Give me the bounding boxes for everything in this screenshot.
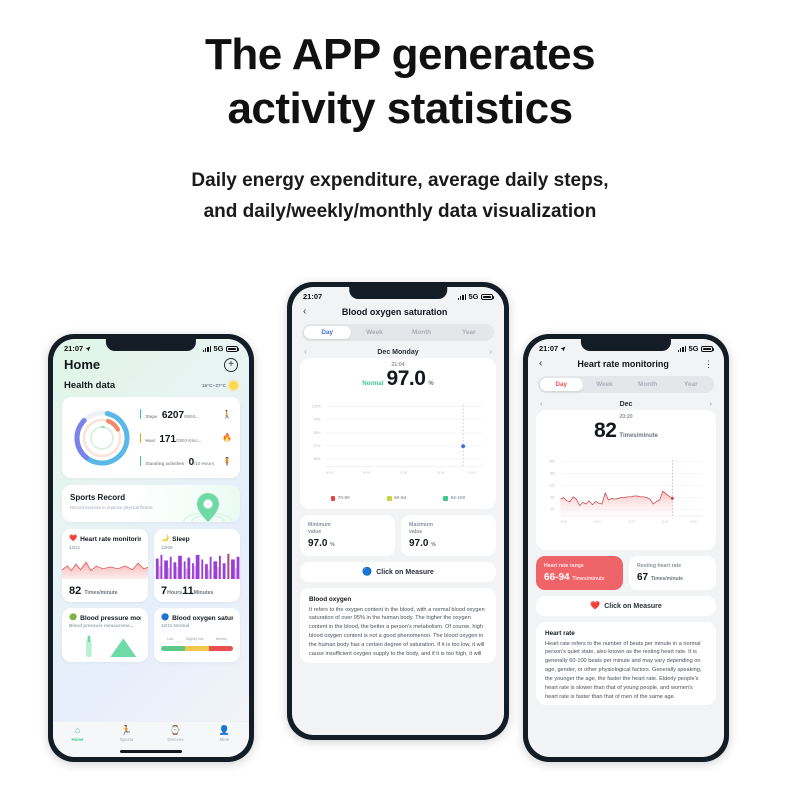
battery-icon bbox=[481, 294, 493, 300]
info-title: Blood oxygen bbox=[309, 596, 487, 603]
info-body: It refers to the oxygen content in the b… bbox=[309, 606, 487, 659]
stat-main: Heat 171/2003 Kloc... bbox=[145, 429, 218, 447]
measure-button[interactable]: 🔵 Click on Measure bbox=[300, 562, 496, 582]
standing-goal: /10 Hours bbox=[194, 461, 214, 466]
more-options-icon[interactable]: ⋮ bbox=[704, 360, 713, 369]
card-blood-pressure[interactable]: 🟢 Blood pressure mor Blood pressure meas… bbox=[62, 608, 148, 663]
svg-text:100%: 100% bbox=[312, 404, 321, 408]
status-right: 5G bbox=[458, 292, 493, 301]
home-header: Home + bbox=[62, 355, 240, 378]
card-head: 🟢 Blood pressure mor bbox=[69, 615, 141, 622]
max-label-line1: Maximum bbox=[409, 522, 488, 529]
segment-week[interactable]: Week bbox=[351, 326, 398, 340]
stat-row-steps[interactable]: Steps 6207/8000... 🚶 bbox=[140, 405, 232, 423]
bp-dot-icon: 🟢 bbox=[69, 615, 77, 622]
resting-unit: Times/minute bbox=[651, 576, 683, 582]
max-unit: % bbox=[431, 542, 435, 548]
measure-label: Click on Measure bbox=[376, 569, 434, 576]
measure-button[interactable]: ❤️ Click on Measure bbox=[536, 596, 716, 616]
heat-value: 171 bbox=[159, 434, 176, 445]
status-left: 21:07 bbox=[539, 344, 566, 353]
tab-mine[interactable]: 👤 Mine bbox=[200, 726, 249, 742]
range-label: Heart rate range bbox=[544, 563, 615, 570]
user-icon: 👤 bbox=[219, 726, 230, 735]
stat-row-heat[interactable]: Heat 171/2003 Kloc... 🔥 bbox=[140, 429, 232, 447]
location-arrow-icon bbox=[85, 346, 91, 352]
resting-value: 67 Times/minute bbox=[637, 572, 708, 583]
hr-value: 82 bbox=[69, 585, 81, 597]
add-device-button[interactable]: + bbox=[224, 358, 238, 372]
stat-main: Steps 6207/8000... bbox=[145, 405, 218, 423]
rings-svg bbox=[70, 406, 134, 470]
svg-text:24:00: 24:00 bbox=[468, 470, 476, 474]
legend-item-90-94: 90-94 bbox=[387, 496, 406, 501]
period-segmented-control: Day Week Month Year bbox=[538, 376, 714, 393]
phone-notch bbox=[106, 339, 196, 351]
range-value: 66-94 Times/minute bbox=[544, 572, 615, 583]
resting-heart-rate-card: Resting heart rate 67 Times/minute bbox=[629, 556, 716, 590]
back-icon[interactable]: ‹ bbox=[539, 359, 542, 369]
sleep-minutes-unit: Minutes bbox=[194, 590, 214, 596]
tab-sports[interactable]: 🏃 Sports bbox=[102, 726, 151, 742]
stat-tick bbox=[140, 456, 141, 466]
home-title: Home bbox=[64, 357, 100, 372]
stat-value-steps: 6207/8000... bbox=[162, 410, 199, 421]
oxygen-line-chart-svg: 100%99%98% 97%96% bbox=[310, 394, 486, 486]
headline-line-2: activity statistics bbox=[0, 82, 800, 136]
status-badge: Normal bbox=[362, 380, 383, 387]
droplet-icon: 🔵 bbox=[362, 568, 372, 576]
battery-icon bbox=[226, 346, 238, 352]
stat-label-standing: Standing activities bbox=[145, 461, 184, 466]
health-data-header: Health data 16°C~27°C bbox=[62, 378, 240, 397]
tab-label: Devices bbox=[167, 737, 183, 742]
heart-rate-range-card: Heart rate range 66-94 Times/minute bbox=[536, 556, 623, 590]
svg-text:12:00: 12:00 bbox=[400, 470, 408, 474]
band-label-low: Low bbox=[167, 637, 173, 641]
battery-icon bbox=[701, 346, 713, 352]
band-label-normal: Normal bbox=[216, 637, 227, 641]
home-indicator bbox=[120, 750, 182, 753]
heat-goal: /2003 Kloc... bbox=[176, 438, 201, 443]
tab-devices[interactable]: ⌚ Devices bbox=[151, 726, 200, 742]
subheadline-line-1: Daily energy expenditure, average daily … bbox=[0, 166, 800, 197]
next-date-button[interactable]: › bbox=[489, 348, 492, 356]
tab-home[interactable]: ⌂ Home bbox=[53, 726, 102, 742]
heart-rate-chart-panel: 20:20 82 Times/minute bbox=[536, 410, 716, 550]
sleep-hours-unit: Hours bbox=[167, 590, 182, 596]
current-date-label: Dec bbox=[620, 401, 633, 408]
flame-icon: 🔥 bbox=[222, 433, 232, 442]
info-title: Heart rate bbox=[545, 630, 707, 637]
heart-rate-chart[interactable]: 200160120 8040 bbox=[544, 442, 708, 543]
svg-text:99%: 99% bbox=[314, 418, 321, 422]
segment-month[interactable]: Month bbox=[398, 326, 445, 340]
stat-label-heat: Heat bbox=[145, 438, 155, 443]
min-value: 97.0 % bbox=[308, 538, 387, 549]
heart-rate-area-chart-svg: 200160120 8040 bbox=[546, 446, 706, 538]
max-label-line2: value bbox=[409, 529, 488, 536]
date-navigator: ‹ Dec Monday › bbox=[292, 348, 504, 356]
svg-text:00:00: 00:00 bbox=[560, 519, 567, 523]
svg-text:18:00: 18:00 bbox=[661, 519, 668, 523]
phone-screen-heart-rate: 21:07 5G ‹ Heart rate monitoring ⋮ Day bbox=[528, 339, 724, 757]
minimum-value-card: Minimum value 97.0 % bbox=[300, 515, 395, 556]
svg-text:24:00: 24:00 bbox=[690, 519, 697, 523]
headline-line-1: The APP generates bbox=[0, 28, 800, 82]
legend-item-94-100: 94-100 bbox=[443, 496, 465, 501]
heart-rate-reading: 82 Times/minute bbox=[544, 420, 708, 442]
max-value: 97.0 % bbox=[409, 538, 488, 549]
card-blood-oxygen[interactable]: 🔵 Blood oxygen satur. 12/11 Normal Low S… bbox=[154, 608, 240, 663]
signal-bars-icon bbox=[203, 346, 211, 352]
page-title: Blood oxygen saturation bbox=[342, 307, 448, 317]
heart-icon: ❤️ bbox=[590, 602, 600, 610]
home-content: Home + Health data 16°C~27°C bbox=[53, 355, 249, 662]
card-date: 12/11 bbox=[69, 545, 141, 550]
card-head: ❤️ Heart rate monitoring bbox=[69, 536, 141, 543]
period-segmented-control: Day Week Month Year bbox=[302, 324, 494, 341]
range-number: 66-94 bbox=[544, 572, 570, 583]
page-subtitle: Daily energy expenditure, average daily … bbox=[0, 166, 800, 228]
status-left: 21:07 bbox=[303, 292, 322, 301]
network-label: 5G bbox=[468, 292, 478, 301]
segment-day[interactable]: Day bbox=[540, 378, 583, 392]
card-date: 12/09 bbox=[161, 545, 233, 550]
phone-mockup-heart-rate: 21:07 5G ‹ Heart rate monitoring ⋮ Day bbox=[523, 334, 729, 762]
card-title: Sleep bbox=[172, 536, 190, 543]
card-head: 🌙 Sleep bbox=[161, 536, 233, 543]
phone-screen-blood-oxygen: 21:07 5G ‹ Blood oxygen saturation Day W… bbox=[292, 287, 504, 735]
watch-icon: ⌚ bbox=[170, 726, 181, 735]
minmax-cards: Minimum value 97.0 % Maximum value 97.0 … bbox=[300, 515, 496, 556]
page-title: The APP generates activity statistics bbox=[0, 28, 800, 135]
standing-icon: 🧍 bbox=[222, 457, 232, 466]
prev-date-button[interactable]: ‹ bbox=[304, 348, 307, 356]
legend-label: 94-100 bbox=[450, 496, 465, 501]
oxygen-range-band bbox=[161, 646, 233, 651]
resting-number: 67 bbox=[637, 572, 648, 583]
signal-bars-icon bbox=[458, 294, 466, 300]
info-body: Heart rate refers to the number of beats… bbox=[545, 640, 707, 702]
heart-icon: ❤️ bbox=[69, 536, 77, 543]
max-number: 97.0 bbox=[409, 538, 428, 549]
svg-text:200: 200 bbox=[549, 459, 555, 463]
oxygen-chart-panel: 21:04 Normal 97.0 % 100%99%98% 97%96% bbox=[300, 358, 496, 509]
heart-rate-info-panel: Heart rate Heart rate refers to the numb… bbox=[536, 622, 716, 705]
walking-icon: 🚶 bbox=[222, 410, 232, 419]
svg-text:18:00: 18:00 bbox=[437, 470, 445, 474]
min-number: 97.0 bbox=[308, 538, 327, 549]
measure-label: Click on Measure bbox=[604, 603, 662, 610]
phone-notch bbox=[349, 287, 447, 299]
range-unit: Times/minute bbox=[572, 576, 604, 582]
band-label-slightly-low: Slightly low bbox=[186, 637, 204, 641]
sleep-minutes: 11 bbox=[182, 585, 194, 597]
card-sleep[interactable]: 🌙 Sleep 12/09 bbox=[154, 529, 240, 602]
hr-unit: Times/minute bbox=[84, 590, 117, 596]
resting-label: Resting heart rate bbox=[637, 563, 708, 570]
status-right: 5G bbox=[203, 344, 238, 353]
next-date-button[interactable]: › bbox=[709, 400, 712, 408]
card-title: Blood pressure mor bbox=[80, 615, 141, 622]
svg-text:06:00: 06:00 bbox=[594, 519, 601, 523]
sleep-bars-chart bbox=[154, 553, 240, 579]
subheadline-line-2: and daily/weekly/monthly data visualizat… bbox=[0, 197, 800, 228]
location-arrow-icon bbox=[560, 346, 566, 352]
min-unit: % bbox=[330, 542, 334, 548]
card-status: 12/11 Normal bbox=[161, 623, 233, 628]
stat-row-standing[interactable]: Standing activities 0/10 Hours 🧍 bbox=[140, 452, 232, 470]
oxygen-legend: 70-90 90-94 94-100 bbox=[308, 491, 488, 502]
segment-month[interactable]: Month bbox=[626, 378, 669, 392]
current-date-label: Dec Monday bbox=[377, 349, 418, 356]
svg-text:06:00: 06:00 bbox=[363, 470, 371, 474]
svg-text:96%: 96% bbox=[314, 457, 321, 461]
activity-rings-chart bbox=[70, 406, 134, 470]
phone-mockup-home: 21:07 5G Home + Health data 16°C~2 bbox=[48, 334, 254, 762]
legend-label: 90-94 bbox=[394, 496, 406, 501]
oxygen-reading: Normal 97.0 % bbox=[308, 368, 488, 390]
page-title: Heart rate monitoring bbox=[577, 359, 669, 369]
legend-label: 70-90 bbox=[338, 496, 350, 501]
svg-text:80: 80 bbox=[551, 495, 555, 499]
stat-tick bbox=[140, 409, 141, 419]
poster-page: The APP generates activity statistics Da… bbox=[0, 0, 800, 800]
segment-year[interactable]: Year bbox=[669, 378, 712, 392]
segment-year[interactable]: Year bbox=[445, 326, 492, 340]
stat-main: Standing activities 0/10 Hours bbox=[145, 452, 218, 470]
card-title: Heart rate monitoring bbox=[80, 536, 141, 543]
band-labels: Low Slightly low Normal bbox=[161, 637, 233, 641]
back-icon[interactable]: ‹ bbox=[303, 307, 306, 317]
svg-text:00:00: 00:00 bbox=[326, 470, 334, 474]
health-stats-list: Steps 6207/8000... 🚶 Heat 171/2003 Kloc.… bbox=[140, 405, 232, 470]
heart-rate-summary-cards: Heart rate range 66-94 Times/minute Rest… bbox=[536, 556, 716, 590]
prev-date-button[interactable]: ‹ bbox=[540, 400, 543, 408]
temperature-label: 16°C~27°C bbox=[202, 383, 226, 388]
status-right: 5G bbox=[678, 344, 713, 353]
card-subtitle: Blood pressure measureme... bbox=[69, 623, 141, 628]
moon-icon: 🌙 bbox=[161, 536, 169, 543]
bp-illustration bbox=[62, 631, 148, 657]
oxygen-chart[interactable]: 100%99%98% 97%96% bbox=[308, 390, 488, 491]
sports-icon: 🏃 bbox=[121, 726, 132, 735]
mini-cards-grid: ❤️ Heart rate monitoring 12/11 82 Times/… bbox=[62, 529, 240, 662]
svg-text:160: 160 bbox=[549, 471, 555, 475]
svg-text:97%: 97% bbox=[314, 444, 321, 448]
weather-widget[interactable]: 16°C~27°C bbox=[202, 381, 238, 390]
phone-screen-home: 21:07 5G Home + Health data 16°C~2 bbox=[53, 339, 249, 757]
steps-value: 6207 bbox=[162, 410, 184, 421]
legend-item-70-90: 70-90 bbox=[331, 496, 350, 501]
oxygen-unit: % bbox=[428, 381, 433, 387]
sun-icon bbox=[229, 381, 238, 390]
svg-text:40: 40 bbox=[551, 507, 555, 511]
heart-rate-unit: Times/minute bbox=[619, 433, 658, 439]
svg-text:120: 120 bbox=[549, 483, 555, 487]
heart-rate-value: 82 bbox=[594, 420, 616, 442]
segment-day[interactable]: Day bbox=[304, 326, 351, 340]
network-label: 5G bbox=[213, 344, 223, 353]
sports-record-card[interactable]: Sports Record Record exercise to improve… bbox=[62, 485, 240, 522]
min-label-line1: Minimum bbox=[308, 522, 387, 529]
date-navigator: ‹ Dec › bbox=[528, 400, 724, 408]
card-value-heart-rate: 82 Times/minute bbox=[69, 586, 141, 597]
oxygen-dot-icon: 🔵 bbox=[161, 615, 169, 622]
status-time: 21:07 bbox=[539, 344, 558, 353]
location-pin-icon bbox=[178, 487, 234, 522]
home-icon: ⌂ bbox=[75, 726, 80, 735]
card-head: 🔵 Blood oxygen satur. bbox=[161, 615, 233, 622]
stat-tick bbox=[140, 433, 141, 443]
tab-label: Sports bbox=[120, 737, 134, 742]
heart-rate-sparkline bbox=[62, 553, 148, 579]
card-value-sleep: 7Hours11Minutes bbox=[161, 586, 233, 597]
card-title: Blood oxygen satur. bbox=[172, 615, 233, 622]
svg-text:98%: 98% bbox=[314, 431, 321, 435]
stat-value-standing: 0/10 Hours bbox=[189, 457, 215, 468]
maximum-value-card: Maximum value 97.0 % bbox=[401, 515, 496, 556]
phone-mockup-blood-oxygen: 21:07 5G ‹ Blood oxygen saturation Day W… bbox=[287, 282, 509, 740]
status-time: 21:07 bbox=[64, 344, 83, 353]
health-data-title: Health data bbox=[64, 380, 115, 391]
network-label: 5G bbox=[688, 344, 698, 353]
min-label-line2: value bbox=[308, 529, 387, 536]
svg-text:12:00: 12:00 bbox=[628, 519, 635, 523]
health-summary-card[interactable]: Steps 6207/8000... 🚶 Heat 171/2003 Kloc.… bbox=[62, 397, 240, 478]
segment-week[interactable]: Week bbox=[583, 378, 626, 392]
steps-goal: /8000... bbox=[184, 414, 199, 419]
status-left: 21:07 bbox=[64, 344, 91, 353]
card-heart-rate[interactable]: ❤️ Heart rate monitoring 12/11 82 Times/… bbox=[62, 529, 148, 602]
status-time: 21:07 bbox=[303, 292, 322, 301]
stat-value-heat: 171/2003 Kloc... bbox=[159, 434, 201, 445]
phone-notch bbox=[581, 339, 671, 351]
tab-label: Mine bbox=[220, 737, 230, 742]
blood-oxygen-info-panel: Blood oxygen It refers to the oxygen con… bbox=[300, 588, 496, 662]
oxygen-value: 97.0 bbox=[387, 368, 426, 390]
stat-label-steps: Steps bbox=[145, 414, 157, 419]
nav-bar: ‹ Blood oxygen saturation bbox=[292, 303, 504, 324]
nav-bar: ‹ Heart rate monitoring ⋮ bbox=[528, 355, 724, 376]
signal-bars-icon bbox=[678, 346, 686, 352]
tab-label: Home bbox=[72, 737, 84, 742]
